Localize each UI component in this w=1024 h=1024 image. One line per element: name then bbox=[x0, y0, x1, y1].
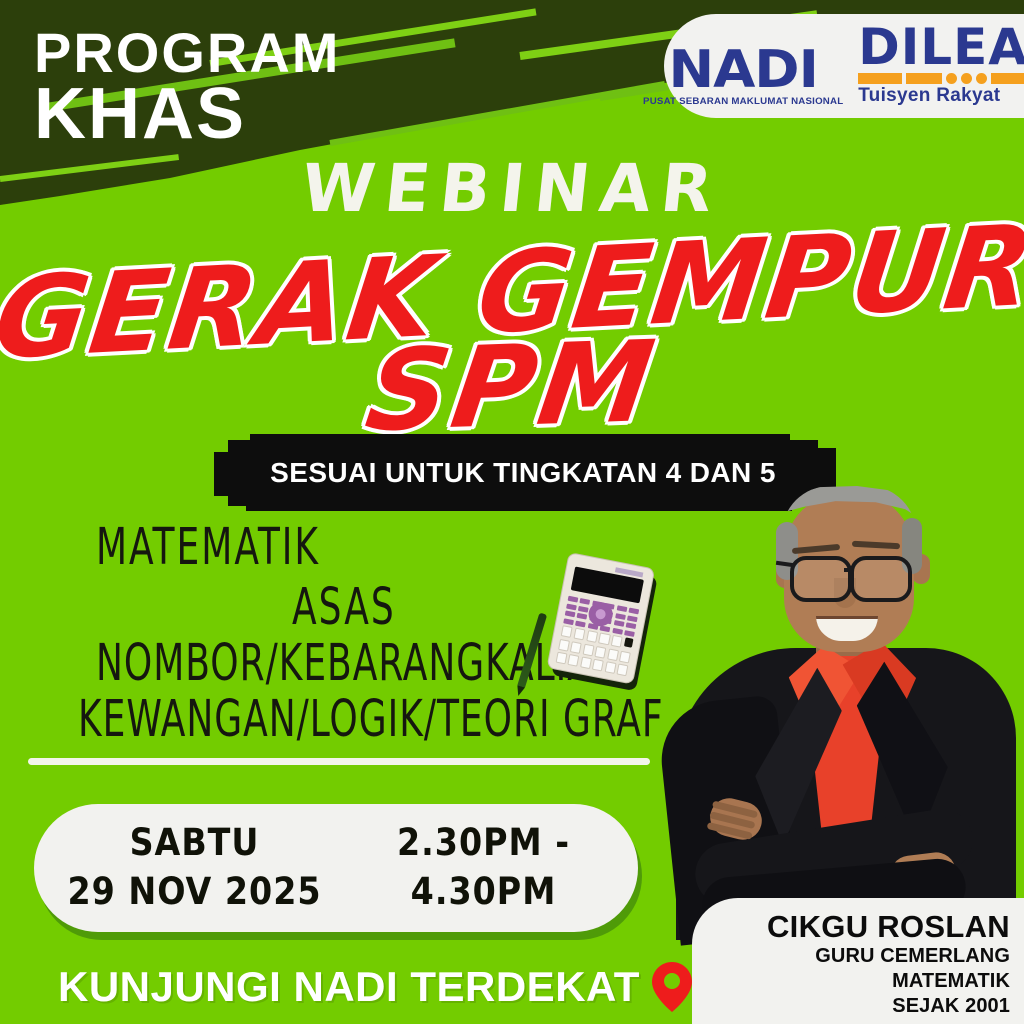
subject-topics-line-2: KEWANGAN/LOGIK/TEORI GRAF bbox=[78, 690, 664, 749]
subject-name: MATEMATIK bbox=[96, 518, 320, 577]
schedule-time-start: 2.30PM - bbox=[339, 819, 628, 868]
dilea-dash-pattern bbox=[858, 73, 1024, 84]
nadi-logo-block: NADI PUSAT SEBARAN MAKLUMAT NASIONAL bbox=[645, 47, 841, 107]
presenter-name-card: CIKGU ROSLAN GURU CEMERLANG MATEMATIK SE… bbox=[692, 898, 1024, 1024]
glasses-lens-right-icon bbox=[850, 556, 912, 602]
nadi-dilea-logo: NADI PUSAT SEBARAN MAKLUMAT NASIONAL DIL… bbox=[664, 14, 1024, 118]
schedule-time-column: 2.30PM - 4.30PM bbox=[339, 819, 638, 917]
location-pin-icon bbox=[652, 962, 692, 1012]
nadi-wordmark: NADI bbox=[668, 47, 817, 95]
presenter-since: SEJAK 2001 bbox=[692, 994, 1010, 1019]
dash-icon bbox=[906, 73, 942, 84]
schedule-time-end: 4.30PM bbox=[339, 868, 628, 917]
schedule-date-column: SABTU 29 NOV 2025 bbox=[34, 819, 339, 917]
section-divider bbox=[28, 758, 650, 765]
cta-label: KUNJUNGI NADI TERDEKAT bbox=[58, 963, 640, 1011]
dot-icon bbox=[961, 73, 972, 84]
program-label: PROGRAM bbox=[34, 25, 340, 81]
khas-label: KHAS bbox=[34, 78, 246, 150]
presenter-photo bbox=[666, 470, 1024, 940]
scientific-calculator-icon bbox=[545, 552, 663, 694]
glasses-bridge-icon bbox=[844, 568, 854, 572]
presenter-name: CIKGU ROSLAN bbox=[692, 910, 1010, 944]
dot-icon bbox=[976, 73, 987, 84]
dilea-wordmark: DILEA bbox=[858, 25, 1024, 70]
dot-icon bbox=[946, 73, 957, 84]
dilea-tagline: Tuisyen Rakyat bbox=[858, 85, 1000, 107]
webinar-poster: PROGRAM KHAS NADI PUSAT SEBARAN MAKLUMAT… bbox=[0, 0, 1024, 1024]
dilea-logo-block: DILEA Tuisyen Rakyat bbox=[849, 25, 1024, 107]
schedule-day: SABTU bbox=[50, 819, 339, 868]
schedule-card: SABTU 29 NOV 2025 2.30PM - 4.30PM bbox=[34, 804, 638, 932]
schedule-date: 29 NOV 2025 bbox=[50, 868, 339, 917]
nadi-tagline: PUSAT SEBARAN MAKLUMAT NASIONAL bbox=[643, 96, 843, 107]
subject-level: ASAS bbox=[292, 578, 396, 637]
glasses-lens-left-icon bbox=[790, 556, 852, 602]
cta-row[interactable]: KUNJUNGI NADI TERDEKAT bbox=[58, 962, 692, 1012]
dash-icon bbox=[858, 73, 902, 84]
presenter-role: GURU CEMERLANG MATEMATIK bbox=[692, 944, 1010, 994]
dash-icon bbox=[991, 73, 1024, 84]
